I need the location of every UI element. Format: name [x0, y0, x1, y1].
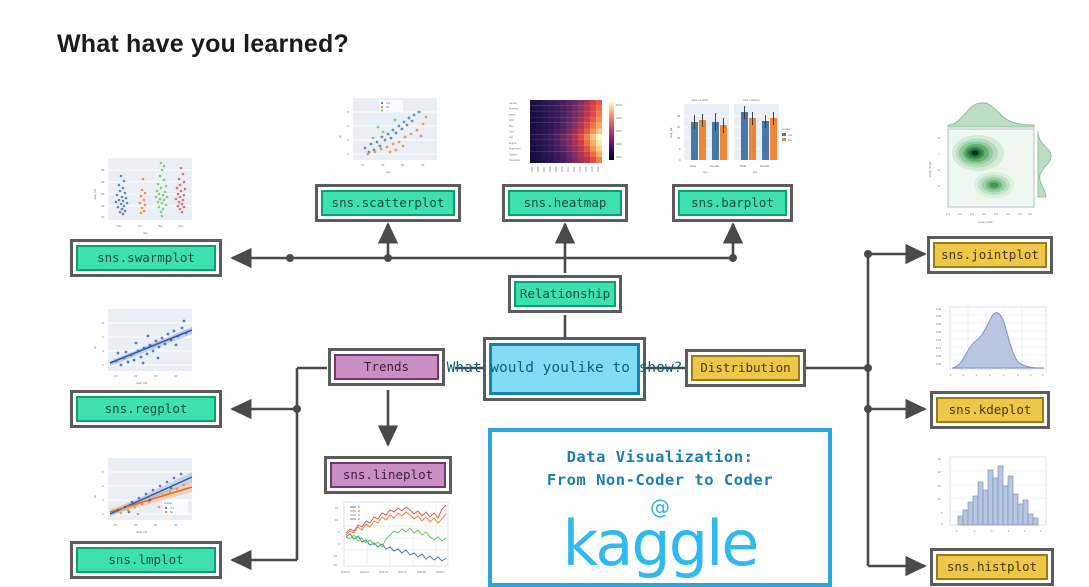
thumbnail-lineplot: A B C D 15105 0-10-20 2016-012016-032016… [322, 497, 454, 585]
branch-distribution-label: Distribution [691, 355, 800, 381]
svg-text:sepal_width: sepal_width [978, 220, 993, 224]
thumbnail-kdeplot: 0.350.300.25 0.200.150.10 0.050.00 -3-2-… [928, 302, 1052, 387]
svg-text:1.5: 1.5 [946, 212, 950, 216]
svg-text:January: January [509, 102, 518, 105]
slide-canvas: What have you learned? [0, 0, 1089, 587]
svg-text:3.0: 3.0 [982, 212, 986, 216]
svg-text:total_bill: total_bill [136, 381, 147, 385]
node-lineplot[interactable]: sns.lineplot [324, 456, 452, 494]
node-histplot[interactable]: sns.histplot [930, 548, 1054, 586]
svg-text:0.15: 0.15 [936, 338, 942, 342]
svg-text:5000: 5000 [616, 103, 622, 107]
node-scatterplot-label: sns.scatterplot [321, 190, 455, 216]
svg-text:0.35: 0.35 [936, 307, 942, 311]
branch-trends-label: Trends [334, 354, 439, 380]
svg-text:4000: 4000 [616, 116, 622, 120]
svg-text:3000: 3000 [616, 129, 622, 133]
svg-text:20: 20 [134, 374, 138, 378]
central-question-box[interactable]: What would you like to show? [483, 337, 646, 401]
node-lineplot-label: sns.lineplot [330, 462, 446, 488]
svg-text:0.20: 0.20 [936, 330, 942, 334]
node-kdeplot[interactable]: sns.kdeplot [930, 391, 1050, 429]
svg-text:—: — [386, 110, 389, 113]
svg-text:10: 10 [114, 523, 118, 527]
svg-text:2016-05: 2016-05 [379, 571, 388, 574]
node-kdeplot-label: sns.kdeplot [936, 397, 1044, 423]
svg-text:2.0: 2.0 [958, 212, 962, 216]
banner-line-1: Data Visualization: [567, 446, 754, 469]
svg-text:total_bill: total_bill [136, 530, 147, 534]
node-regplot-label: sns.regplot [76, 396, 216, 422]
node-barplot[interactable]: sns.barplot [672, 184, 793, 222]
svg-text:June: June [509, 131, 515, 134]
svg-text:sex: sex [703, 170, 708, 174]
svg-text:Fri: Fri [138, 224, 142, 228]
svg-text:D: D [358, 517, 360, 521]
thumbnail-lmplot: smoker Yes No 8642 10203040 total_bill t… [88, 452, 198, 540]
svg-text:0.00: 0.00 [936, 362, 942, 366]
svg-text:40: 40 [101, 180, 105, 184]
svg-text:4.5: 4.5 [1018, 212, 1022, 216]
svg-text:10: 10 [335, 518, 339, 522]
svg-text:2009: 2009 [555, 166, 558, 172]
kaggle-logo-text: kaggle [563, 515, 758, 574]
svg-text:20: 20 [134, 523, 138, 527]
svg-text:tip: tip [93, 346, 97, 350]
svg-text:2016: 2016 [597, 166, 600, 172]
svg-text:-20: -20 [333, 563, 337, 567]
svg-text:May: May [509, 125, 514, 128]
svg-text:Sat: Sat [158, 224, 163, 228]
svg-text:10: 10 [361, 163, 365, 167]
thumbnail-histplot: 252015 1050 -2-10 123 [928, 452, 1052, 544]
svg-text:15: 15 [677, 125, 681, 129]
svg-text:2012: 2012 [573, 166, 576, 172]
svg-text:10: 10 [101, 215, 105, 219]
node-heatmap[interactable]: sns.heatmap [502, 184, 628, 222]
svg-text:3.5: 3.5 [994, 212, 998, 216]
svg-text:February: February [509, 108, 519, 111]
svg-text:5.0: 5.0 [1028, 212, 1032, 216]
svg-text:0.25: 0.25 [936, 322, 942, 326]
svg-text:tip: tip [338, 135, 342, 139]
svg-text:October: October [509, 153, 518, 156]
branch-trends[interactable]: Trends [328, 348, 445, 386]
thumbnail-regplot: 8642 10203040 total_bill tip [88, 303, 198, 388]
thumbnail-heatmap: 500040003000 20001000 JanuaryFebruaryMar… [506, 92, 626, 180]
svg-text:2016-07: 2016-07 [398, 571, 407, 574]
svg-text:tip: tip [93, 495, 97, 499]
svg-text:A: A [358, 505, 360, 509]
node-lmplot-label: sns.lmplot [76, 547, 216, 573]
node-jointplot-label: sns.jointplot [933, 242, 1047, 268]
node-heatmap-label: sns.heatmap [508, 190, 622, 216]
svg-text:2016-03: 2016-03 [360, 571, 369, 574]
svg-text:2000: 2000 [616, 142, 622, 146]
svg-text:total_bill: total_bill [669, 127, 673, 138]
node-scatterplot[interactable]: sns.scatterplot [315, 184, 461, 222]
svg-text:2016-09: 2016-09 [417, 571, 426, 574]
svg-text:30: 30 [401, 163, 405, 167]
svg-text:2013: 2013 [579, 166, 582, 172]
svg-text:30: 30 [154, 374, 158, 378]
svg-text:Male: Male [740, 164, 747, 168]
branch-relationship-label: Relationship [514, 281, 616, 307]
svg-text:September: September [509, 148, 521, 151]
svg-text:2010: 2010 [561, 166, 564, 172]
svg-text:time = Dinner: time = Dinner [743, 98, 760, 102]
svg-text:40: 40 [421, 163, 425, 167]
svg-text:30: 30 [154, 523, 158, 527]
svg-text:April: April [509, 119, 514, 122]
branch-distribution[interactable]: Distribution [685, 349, 806, 387]
node-lmplot[interactable]: sns.lmplot [70, 541, 222, 579]
svg-text:Sun: Sun [178, 224, 184, 228]
node-swarmplot-label: sns.swarmplot [76, 245, 216, 271]
svg-text:30: 30 [101, 192, 105, 196]
svg-text:20: 20 [381, 163, 385, 167]
node-jointplot[interactable]: sns.jointplot [927, 236, 1053, 274]
svg-text:15: 15 [335, 506, 339, 510]
svg-text:2014: 2014 [585, 166, 588, 172]
svg-text:B: B [358, 509, 360, 513]
node-swarmplot[interactable]: sns.swarmplot [70, 239, 222, 277]
svg-text:Male: Male [690, 164, 697, 168]
svg-text:No: No [386, 105, 390, 109]
svg-text:10: 10 [677, 136, 681, 140]
svg-text:40: 40 [174, 374, 178, 378]
svg-text:2008: 2008 [549, 166, 552, 172]
svg-text:day: day [143, 231, 148, 235]
svg-text:2011: 2011 [567, 166, 570, 172]
thumbnail-barplot: time = Lunchtime = Dinner 201510 50 Male… [667, 92, 797, 180]
central-question-text: What would you like to show? [489, 343, 640, 395]
svg-text:10: 10 [114, 374, 118, 378]
node-histplot-label: sns.histplot [936, 554, 1048, 580]
svg-text:total_bill: total_bill [93, 189, 97, 200]
thumbnail-jointplot: 8765 1.52.02.5 3.03.54.0 4.55.0 sepal_wi… [922, 97, 1056, 229]
svg-text:4.0: 4.0 [1006, 212, 1010, 216]
node-barplot-label: sns.barplot [678, 190, 787, 216]
svg-text:40: 40 [174, 523, 178, 527]
svg-text:2016-11: 2016-11 [436, 571, 445, 574]
svg-text:day: day [386, 170, 391, 174]
svg-text:1000: 1000 [616, 155, 622, 159]
kaggle-course-banner: Data Visualization: From Non-Coder to Co… [488, 428, 832, 587]
svg-text:2015: 2015 [591, 166, 594, 172]
svg-text:0.30: 0.30 [936, 314, 942, 318]
svg-text:Thur: Thur [116, 224, 122, 228]
svg-text:August: August [509, 142, 517, 145]
svg-text:0.05: 0.05 [936, 354, 942, 358]
svg-text:March: March [509, 113, 516, 116]
svg-text:sepal_length: sepal_length [928, 161, 932, 177]
svg-text:50: 50 [101, 168, 105, 172]
thumbnail-swarmplot: 504030 2010 ThurFri SatSun day total_bil… [88, 152, 198, 237]
svg-text:Yes: Yes [386, 101, 391, 105]
svg-text:2006: 2006 [537, 166, 540, 172]
banner-line-2: From Non-Coder to Coder [547, 469, 773, 492]
svg-text:November: November [509, 159, 520, 162]
svg-text:smoker: smoker [782, 127, 791, 131]
svg-text:smoker: smoker [164, 502, 172, 505]
svg-text:0.10: 0.10 [936, 346, 942, 350]
svg-text:20: 20 [101, 204, 105, 208]
svg-text:sex: sex [753, 170, 758, 174]
svg-text:2016-01: 2016-01 [341, 571, 350, 574]
svg-text:No: No [788, 138, 792, 142]
svg-text:Female: Female [710, 164, 720, 168]
svg-text:20: 20 [677, 114, 681, 118]
svg-text:Yes: Yes [788, 133, 793, 137]
svg-text:2007: 2007 [543, 166, 546, 172]
svg-text:-10: -10 [333, 554, 337, 558]
svg-text:Female: Female [760, 164, 770, 168]
svg-text:2.5: 2.5 [970, 212, 974, 216]
thumbnail-scatterplot: Yes No — 8642 10203040 day tip [333, 92, 443, 177]
svg-text:C: C [358, 513, 360, 517]
svg-text:time = Lunch: time = Lunch [692, 98, 709, 102]
svg-text:2005: 2005 [531, 166, 534, 172]
branch-relationship[interactable]: Relationship [508, 275, 622, 313]
node-regplot[interactable]: sns.regplot [70, 390, 222, 428]
